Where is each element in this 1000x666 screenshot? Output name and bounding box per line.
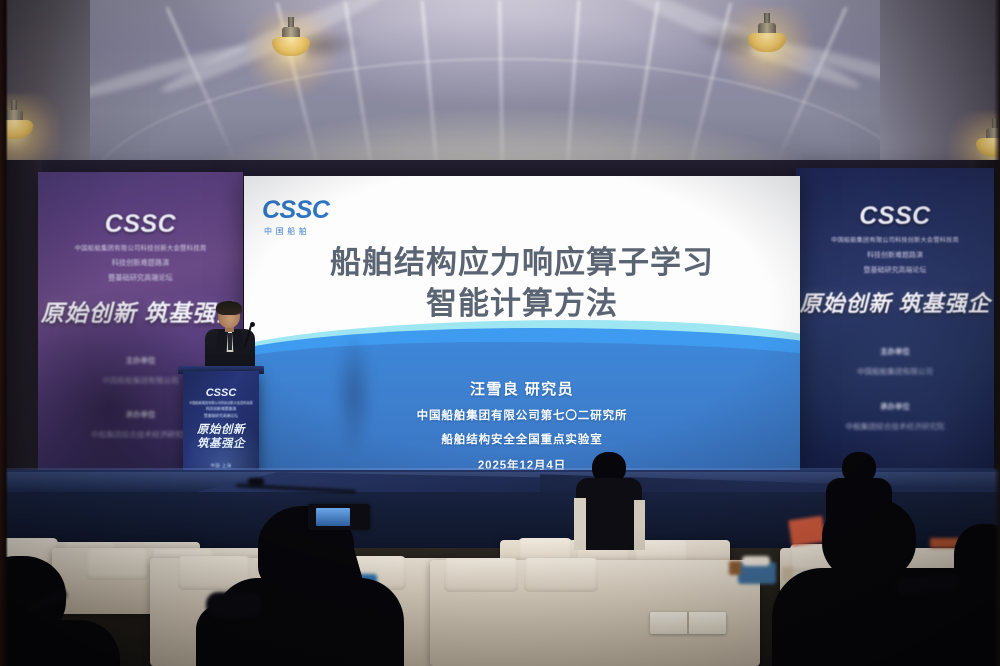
slide-speaker-name: 汪雪良 研究员 xyxy=(244,378,800,399)
slide-cssc-logo: CSSC 中国船舶 xyxy=(262,198,329,237)
smartphone-screen xyxy=(316,508,350,526)
banner-right-host-name: 中国船舶集团有限公司 xyxy=(796,366,994,377)
banner-left-logo: CSSC xyxy=(38,210,243,239)
podium-subtitle-3: 暨基础研究高端论坛 xyxy=(183,414,259,419)
banner-left-subtitle-3: 暨基础研究高端论坛 xyxy=(38,273,243,283)
slide-affiliation-2: 船舶结构安全全国重点实验室 xyxy=(244,431,800,447)
presenter xyxy=(203,303,257,375)
attendee-far-right-body xyxy=(930,580,1000,666)
slide-title-line-2: 智能计算方法 xyxy=(244,283,800,324)
banner-right-logo: CSSC xyxy=(796,202,994,231)
stage-cable-connector xyxy=(248,478,264,486)
photo-edge-left xyxy=(0,0,8,666)
attendee-back-center-shirt-right xyxy=(634,500,645,550)
slide-logo-chinese: 中国船舶 xyxy=(264,226,329,237)
banner-right-organizer-name: 中船集团综合技术经济研究院 xyxy=(796,421,994,432)
conference-photo: CSSC 中国船舶集团有限公司科技创新大会暨科技周 科技创新难题路演 暨基础研究… xyxy=(0,0,1000,666)
tissue xyxy=(742,556,770,566)
sofa-cushion xyxy=(86,548,148,580)
microphone-head xyxy=(250,322,255,327)
cup xyxy=(729,561,741,575)
orange-folder xyxy=(788,516,825,546)
attendee-mid-bag xyxy=(206,592,262,618)
podium-slogan: 原始创新 筑基强企 xyxy=(183,424,259,451)
podium-subtitle-1: 中国船舶集团有限公司科技创新大会暨科技周 xyxy=(183,400,259,405)
presenter-hair xyxy=(216,301,242,315)
photo-edge-right xyxy=(994,0,1000,666)
ceiling-drapery xyxy=(0,0,1000,185)
podium-slogan-line-1: 原始创新 xyxy=(183,424,259,438)
slide-title-line-1: 船舶结构应力响应算子学习 xyxy=(244,242,800,283)
attendee-back-center-shirt-left xyxy=(574,498,586,550)
slide-affiliation-1: 中国船舶集团有限公司第七〇二研究所 xyxy=(244,407,800,423)
attendee-front-left-body xyxy=(0,620,120,666)
banner-left-subtitle-1: 中国船舶集团有限公司科技创新大会暨科技周 xyxy=(38,243,243,252)
notebook-spine xyxy=(687,612,689,634)
presenter-tie xyxy=(228,333,232,350)
sofa-cushion xyxy=(444,558,518,592)
presentation-screen: CSSC 中国船舶 船舶结构应力响应算子学习 智能计算方法 汪雪良 研究员 中国… xyxy=(244,176,800,472)
banner-right-slogan: 原始创新 筑基强企 xyxy=(796,286,994,318)
slide-title: 船舶结构应力响应算子学习 智能计算方法 xyxy=(244,242,800,324)
podium-logo: CSSC xyxy=(183,387,259,399)
banner-right-organizer-label: 承办单位 xyxy=(796,401,994,412)
podium-slogan-line-2: 筑基强企 xyxy=(183,438,259,452)
banner-right: CSSC 中国船舶集团有限公司科技创新大会暨科技周 科技创新难题路演 暨基础研究… xyxy=(796,168,994,470)
banner-right-subtitle-3: 暨基础研究高端论坛 xyxy=(796,265,994,275)
slide-logo-wordmark: CSSC xyxy=(262,198,329,223)
banner-right-subtitle-1: 中国船舶集团有限公司科技创新大会暨科技周 xyxy=(796,235,994,244)
sofa-cushion xyxy=(524,558,598,592)
banner-right-subtitle-2: 科技创新难题路演 xyxy=(796,250,994,260)
slide-speaker-shadow xyxy=(332,326,376,472)
banner-right-host-label: 主办单位 xyxy=(796,346,994,357)
banner-left-subtitle-2: 科技创新难题路演 xyxy=(38,258,243,268)
podium-subtitle-2: 科技创新难题路演 xyxy=(183,407,259,412)
